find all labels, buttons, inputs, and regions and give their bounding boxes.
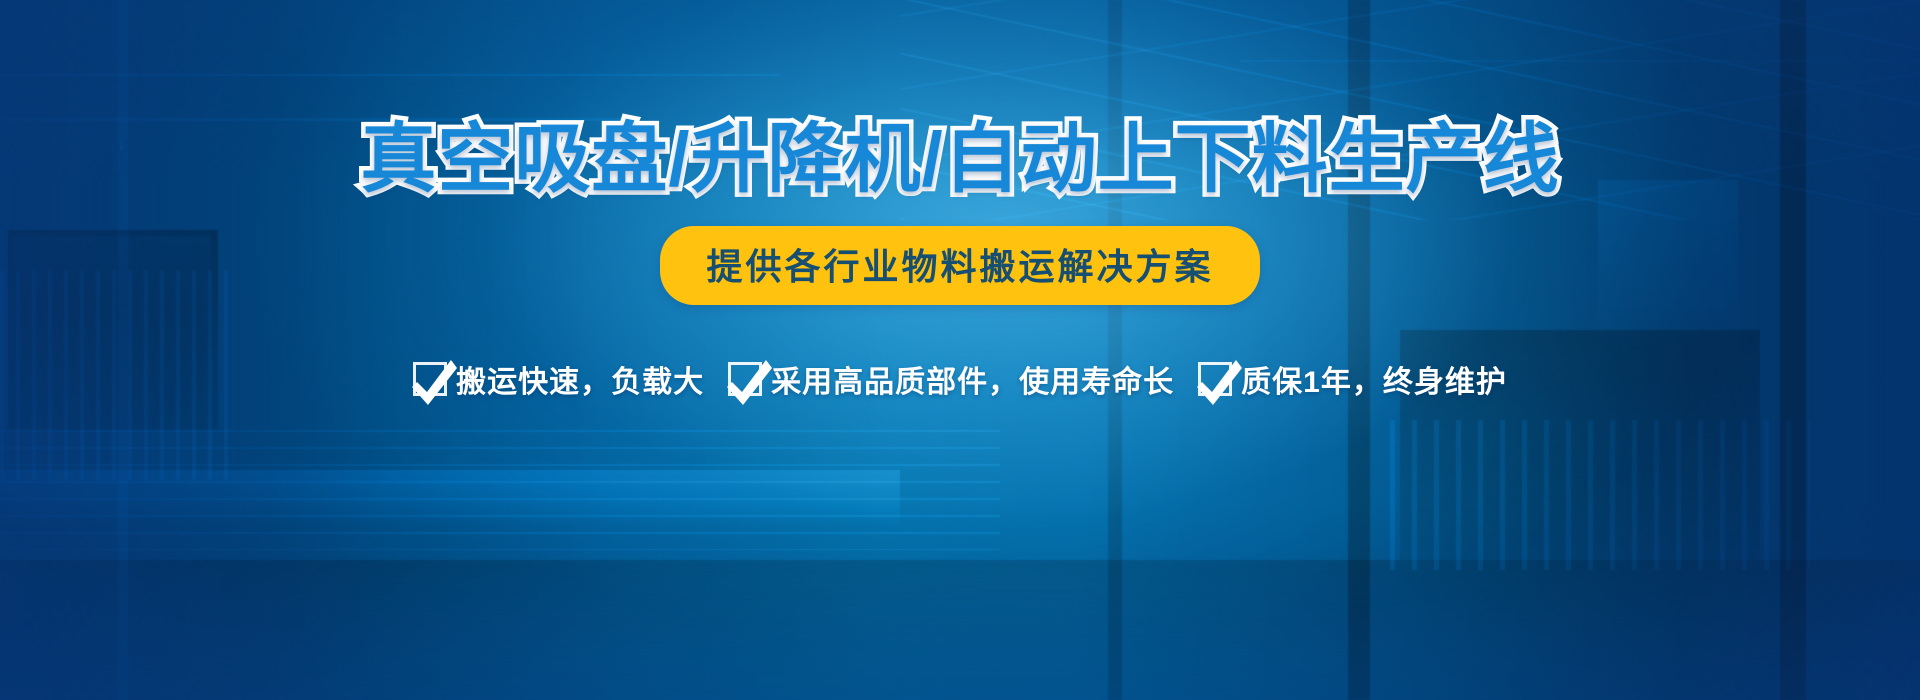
feature-label: 采用高品质部件，使用寿命长	[771, 357, 1174, 401]
banner-subtitle-pill: 提供各行业物料搬运解决方案	[660, 226, 1259, 305]
hero-banner: 真空吸盘/升降机/自动上下料生产线 提供各行业物料搬运解决方案 搬运快速，负载大…	[0, 0, 1920, 700]
check-mark-icon	[1198, 362, 1232, 396]
feature-list: 搬运快速，负载大 采用高品质部件，使用寿命长 质保1年，终身维护	[413, 357, 1507, 401]
feature-item: 采用高品质部件，使用寿命长	[728, 357, 1174, 401]
feature-label: 质保1年，终身维护	[1241, 357, 1507, 401]
banner-headline: 真空吸盘/升降机/自动上下料生产线	[360, 120, 1559, 200]
check-mark-icon	[413, 362, 447, 396]
feature-item: 质保1年，终身维护	[1198, 357, 1507, 401]
banner-content: 真空吸盘/升降机/自动上下料生产线 提供各行业物料搬运解决方案 搬运快速，负载大…	[0, 0, 1920, 700]
feature-label: 搬运快速，负载大	[456, 357, 704, 401]
feature-item: 搬运快速，负载大	[413, 357, 704, 401]
check-mark-icon	[728, 362, 762, 396]
